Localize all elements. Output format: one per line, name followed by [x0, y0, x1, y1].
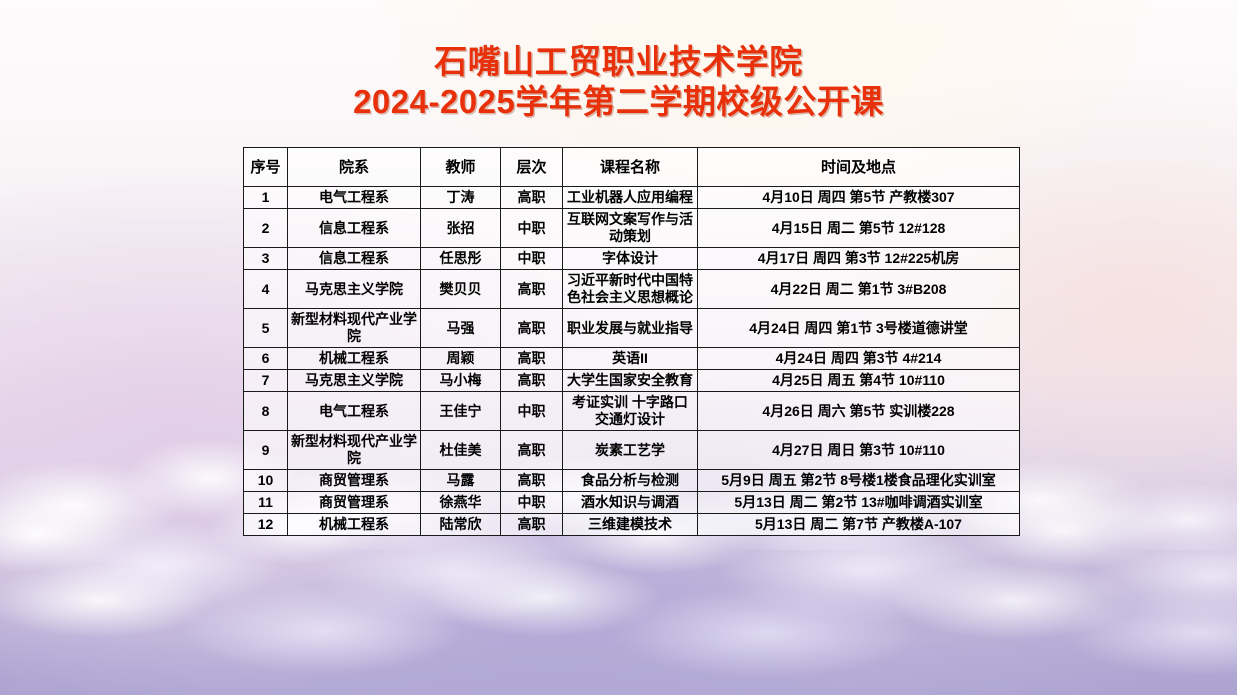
- cell-course: 食品分析与检测: [563, 470, 698, 492]
- cell-course: 炭素工艺学: [563, 431, 698, 470]
- column-header-department: 院系: [288, 148, 421, 187]
- cell-teacher: 马小梅: [421, 370, 501, 392]
- cell-course: 酒水知识与调酒: [563, 492, 698, 514]
- cell-level: 高职: [501, 309, 563, 348]
- cell-when-where: 4月24日 周四 第3节 4#214: [698, 348, 1020, 370]
- table-row: 6机械工程系周颖高职英语II4月24日 周四 第3节 4#214: [244, 348, 1020, 370]
- cell-index: 8: [244, 392, 288, 431]
- cell-index: 2: [244, 209, 288, 248]
- cell-index: 3: [244, 248, 288, 270]
- column-header-level: 层次: [501, 148, 563, 187]
- table-header-row: 序号 院系 教师 层次 课程名称 时间及地点: [244, 148, 1020, 187]
- schedule-table-body: 1电气工程系丁涛高职工业机器人应用编程4月10日 周四 第5节 产教楼3072信…: [244, 187, 1020, 536]
- cell-department: 商贸管理系: [288, 470, 421, 492]
- slide-title: 石嘴山工贸职业技术学院 2024-2025学年第二学期校级公开课: [0, 42, 1237, 122]
- cell-department: 信息工程系: [288, 248, 421, 270]
- cell-teacher: 马强: [421, 309, 501, 348]
- table-row: 7马克思主义学院马小梅高职大学生国家安全教育4月25日 周五 第4节 10#11…: [244, 370, 1020, 392]
- cell-course: 英语II: [563, 348, 698, 370]
- cell-course: 习近平新时代中国特色社会主义思想概论: [563, 270, 698, 309]
- cell-course: 互联网文案写作与活动策划: [563, 209, 698, 248]
- cell-level: 高职: [501, 470, 563, 492]
- table-row: 12机械工程系陆常欣高职三维建模技术5月13日 周二 第7节 产教楼A-107: [244, 514, 1020, 536]
- cell-department: 马克思主义学院: [288, 370, 421, 392]
- table-row: 9新型材料现代产业学院杜佳美高职炭素工艺学4月27日 周日 第3节 10#110: [244, 431, 1020, 470]
- table-row: 3信息工程系任思彤中职字体设计4月17日 周四 第3节 12#225机房: [244, 248, 1020, 270]
- cell-level: 高职: [501, 348, 563, 370]
- cell-course: 工业机器人应用编程: [563, 187, 698, 209]
- cell-when-where: 4月25日 周五 第4节 10#110: [698, 370, 1020, 392]
- cell-teacher: 陆常欣: [421, 514, 501, 536]
- cell-department: 机械工程系: [288, 514, 421, 536]
- cell-teacher: 王佳宁: [421, 392, 501, 431]
- cell-when-where: 4月10日 周四 第5节 产教楼307: [698, 187, 1020, 209]
- cell-course: 大学生国家安全教育: [563, 370, 698, 392]
- cell-department: 信息工程系: [288, 209, 421, 248]
- cell-department: 新型材料现代产业学院: [288, 431, 421, 470]
- cell-course: 字体设计: [563, 248, 698, 270]
- cell-teacher: 丁涛: [421, 187, 501, 209]
- column-header-course: 课程名称: [563, 148, 698, 187]
- cell-level: 中职: [501, 492, 563, 514]
- cell-index: 11: [244, 492, 288, 514]
- cell-department: 马克思主义学院: [288, 270, 421, 309]
- table-row: 8电气工程系王佳宁中职考证实训 十字路口交通灯设计4月26日 周六 第5节 实训…: [244, 392, 1020, 431]
- cloud-layer-near-icon: [0, 560, 1237, 695]
- table-row: 1电气工程系丁涛高职工业机器人应用编程4月10日 周四 第5节 产教楼307: [244, 187, 1020, 209]
- cell-department: 商贸管理系: [288, 492, 421, 514]
- cell-department: 电气工程系: [288, 187, 421, 209]
- cell-index: 1: [244, 187, 288, 209]
- column-header-index: 序号: [244, 148, 288, 187]
- cell-level: 中职: [501, 248, 563, 270]
- cell-level: 高职: [501, 370, 563, 392]
- cell-level: 中职: [501, 392, 563, 431]
- title-line-institution: 石嘴山工贸职业技术学院: [0, 42, 1237, 82]
- cell-course: 考证实训 十字路口交通灯设计: [563, 392, 698, 431]
- cell-teacher: 任思彤: [421, 248, 501, 270]
- schedule-table: 序号 院系 教师 层次 课程名称 时间及地点 1电气工程系丁涛高职工业机器人应用…: [243, 147, 1020, 536]
- cell-when-where: 4月24日 周四 第1节 3号楼道德讲堂: [698, 309, 1020, 348]
- cell-index: 5: [244, 309, 288, 348]
- table-row: 2信息工程系张招中职互联网文案写作与活动策划4月15日 周二 第5节 12#12…: [244, 209, 1020, 248]
- cell-department: 电气工程系: [288, 392, 421, 431]
- cell-level: 中职: [501, 209, 563, 248]
- cell-when-where: 5月13日 周二 第2节 13#咖啡调酒实训室: [698, 492, 1020, 514]
- cell-level: 高职: [501, 514, 563, 536]
- table-row: 5新型材料现代产业学院马强高职职业发展与就业指导4月24日 周四 第1节 3号楼…: [244, 309, 1020, 348]
- cell-teacher: 杜佳美: [421, 431, 501, 470]
- cell-course: 职业发展与就业指导: [563, 309, 698, 348]
- cell-course: 三维建模技术: [563, 514, 698, 536]
- cell-level: 高职: [501, 187, 563, 209]
- cell-when-where: 4月15日 周二 第5节 12#128: [698, 209, 1020, 248]
- cell-department: 新型材料现代产业学院: [288, 309, 421, 348]
- cell-when-where: 4月22日 周二 第1节 3#B208: [698, 270, 1020, 309]
- cell-index: 9: [244, 431, 288, 470]
- cell-when-where: 5月13日 周二 第7节 产教楼A-107: [698, 514, 1020, 536]
- title-line-subject: 2024-2025学年第二学期校级公开课: [0, 82, 1237, 122]
- cell-department: 机械工程系: [288, 348, 421, 370]
- schedule-table-container: 序号 院系 教师 层次 课程名称 时间及地点 1电气工程系丁涛高职工业机器人应用…: [243, 147, 1019, 536]
- cell-index: 4: [244, 270, 288, 309]
- column-header-when-where: 时间及地点: [698, 148, 1020, 187]
- cell-index: 10: [244, 470, 288, 492]
- table-row: 4马克思主义学院樊贝贝高职习近平新时代中国特色社会主义思想概论4月22日 周二 …: [244, 270, 1020, 309]
- cell-when-where: 4月17日 周四 第3节 12#225机房: [698, 248, 1020, 270]
- cell-index: 6: [244, 348, 288, 370]
- column-header-teacher: 教师: [421, 148, 501, 187]
- cell-when-where: 4月26日 周六 第5节 实训楼228: [698, 392, 1020, 431]
- cell-teacher: 周颖: [421, 348, 501, 370]
- cell-level: 高职: [501, 270, 563, 309]
- cell-teacher: 张招: [421, 209, 501, 248]
- cell-when-where: 5月9日 周五 第2节 8号楼1楼食品理化实训室: [698, 470, 1020, 492]
- cell-teacher: 樊贝贝: [421, 270, 501, 309]
- cell-index: 12: [244, 514, 288, 536]
- cell-when-where: 4月27日 周日 第3节 10#110: [698, 431, 1020, 470]
- cell-teacher: 马露: [421, 470, 501, 492]
- cell-level: 高职: [501, 431, 563, 470]
- table-row: 10商贸管理系马露高职食品分析与检测5月9日 周五 第2节 8号楼1楼食品理化实…: [244, 470, 1020, 492]
- cell-index: 7: [244, 370, 288, 392]
- table-row: 11商贸管理系徐燕华中职酒水知识与调酒5月13日 周二 第2节 13#咖啡调酒实…: [244, 492, 1020, 514]
- cell-teacher: 徐燕华: [421, 492, 501, 514]
